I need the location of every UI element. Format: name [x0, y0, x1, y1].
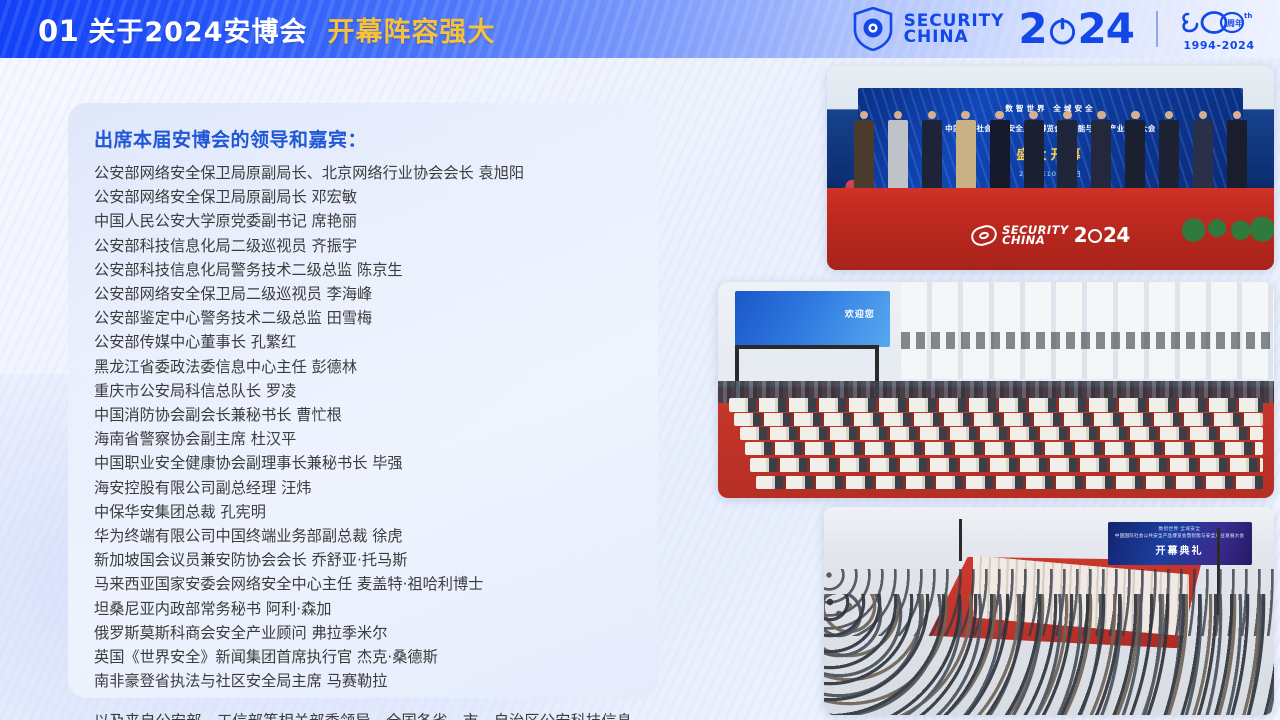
list-item: 重庆市公安局科信总队长 罗凌 [94, 379, 632, 403]
photo3-foreground-crowd [824, 594, 1274, 715]
list-item: 中国职业安全健康协会副理事长兼秘书长 毕强 [94, 451, 632, 475]
list-item: 公安部科技信息化局二级巡视员 齐振宇 [94, 234, 632, 258]
list-item: 公安部网络安全保卫局二级巡视员 李海峰 [94, 282, 632, 306]
logo-year-prefix: 2 [1018, 8, 1046, 50]
guest-list: 公安部网络安全保卫局原副局长、北京网络行业协会会长 袁旭阳 公安部网络安全保卫局… [94, 161, 632, 693]
list-item: 中国消防协会副会长兼秘书长 曹忙根 [94, 403, 632, 427]
photo1-person [1227, 111, 1247, 193]
logo-divider [1156, 11, 1158, 47]
page-title: 01 关于2024安博会 开幕阵容强大 [38, 10, 496, 49]
photo1-swirl-icon [969, 222, 999, 248]
photo1-person [990, 111, 1010, 193]
photo1-person [1057, 111, 1077, 193]
anniversary-badge: 周年 th 1994-2024 [1180, 8, 1258, 51]
anniversary-30-icon: 周年 th [1180, 8, 1258, 38]
photo1-stage-logo: SECURITY CHINA 2 24 [912, 211, 1189, 260]
photo3-screen-line1: 数智世界 全域安全 [1108, 526, 1252, 532]
photo1-person [1024, 111, 1044, 193]
list-item: 坦桑尼亚内政部常务秘书 阿利·森加 [94, 597, 632, 621]
photo1-person [1091, 111, 1111, 193]
list-item: 中保华安集团总裁 孔宪明 [94, 500, 632, 524]
section-title: 关于2024安博会 [88, 10, 307, 49]
anniversary-years: 1994-2024 [1183, 40, 1254, 51]
security-shield-icon [853, 7, 893, 51]
photo1-person [854, 111, 874, 193]
photo1-person [1159, 111, 1179, 193]
photo2-seating-area [729, 396, 1263, 498]
photo3-led-screen: 数智世界 全域安全 中国国际社会公共安全产品博览会暨智能与安全产业发展大会 开幕… [1108, 522, 1252, 566]
list-item: 中国人民公安大学原党委副书记 席艳丽 [94, 209, 632, 233]
photo1-person [1193, 111, 1213, 193]
svg-text:周年: 周年 [1227, 18, 1243, 28]
photo2-hall-pillars [901, 282, 1274, 379]
logo-year-suffix: 24 [1078, 8, 1134, 50]
list-item: 公安部鉴定中心警务技术二级总监 田雪梅 [94, 306, 632, 330]
photo3-screen-line2: 中国国际社会公共安全产品博览会暨智能与安全产业发展大会 [1108, 533, 1252, 539]
list-item: 俄罗斯莫斯科商会安全产业顾问 弗拉季米尔 [94, 621, 632, 645]
list-item: 英国《世界安全》新闻集团首席执行官 杰克·桑德斯 [94, 645, 632, 669]
list-item: 公安部网络安全保卫局原副局长 邓宏敏 [94, 185, 632, 209]
photo1-person [1125, 111, 1145, 193]
aerial-ceremony-photo: 数智世界 全域安全 中国国际社会公共安全产品博览会暨智能与安全产业发展大会 开幕… [824, 507, 1274, 715]
list-item: 海安控股有限公司副总经理 汪炜 [94, 476, 632, 500]
list-item: 公安部科技信息化局警务技术二级总监 陈京生 [94, 258, 632, 282]
photo1-vip-row [854, 111, 1247, 193]
card-title: 出席本届安博会的领导和嘉宾： [94, 125, 632, 152]
list-item: 华为终端有限公司中国终端业务部副总裁 徐虎 [94, 524, 632, 548]
logo-line-china: CHINA [904, 29, 1005, 45]
list-item: 新加坡国会议员兼安防协会会长 乔舒亚·托马斯 [94, 548, 632, 572]
power-button-icon [1048, 16, 1077, 45]
photo3-truss-left [959, 519, 962, 561]
guest-list-card: 出席本届安博会的领导和嘉宾： 公安部网络安全保卫局原副局长、北京网络行业协会会长… [68, 103, 658, 698]
photo1-logo-year-a: 2 [1074, 223, 1087, 247]
section-subtitle: 开幕阵容强大 [328, 10, 496, 49]
section-index: 01 [38, 14, 79, 48]
slide-header-bar: 01 关于2024安博会 开幕阵容强大 SECURITY CHINA 2 [0, 0, 1280, 58]
photo1-plants-right [1176, 209, 1274, 262]
photo1-logo-year-b: 24 [1103, 223, 1130, 247]
list-item: 公安部传媒中心董事长 孔繁红 [94, 330, 632, 354]
list-item: 海南省警察协会副主席 杜汉平 [94, 427, 632, 451]
photo1-logo-china: CHINA [1002, 235, 1068, 246]
svg-text:th: th [1244, 12, 1252, 20]
summary-part-1: 以及来自公安部、工信部等相关部委领导，全国各省、市、自治区公安科技信息化部门领导… [94, 712, 632, 720]
photo1-person [956, 111, 976, 193]
photo2-upper-gallery [901, 332, 1274, 349]
list-item: 南非豪登省执法与社区安全局主席 马赛勒拉 [94, 669, 632, 693]
photo3-screen-line3: 开幕典礼 [1108, 542, 1252, 557]
list-item: 公安部网络安全保卫局原副局长、北京网络行业协会会长 袁旭阳 [94, 161, 632, 185]
audience-hall-photo: 欢迎您 [718, 282, 1274, 498]
list-item: 马来西亚国家安委会网络安全中心主任 麦盖特·祖哈利博士 [94, 572, 632, 596]
logo-year: 2 24 [1018, 8, 1134, 50]
photo1-person [888, 111, 908, 193]
summary-paragraph: 以及来自公安部、工信部等相关部委领导，全国各省、市、自治区公安科技信息化部门领导… [94, 709, 632, 720]
photo1-person [922, 111, 942, 193]
opening-ceremony-stage-photo: 数智世界 全域安全 中国国际社会公共安全产品博览会暨智能与安全产业发展大会 盛大… [827, 66, 1274, 270]
security-china-wordmark: SECURITY CHINA [904, 13, 1005, 46]
photo2-welcome-screen: 欢迎您 [735, 291, 891, 347]
event-logo: SECURITY CHINA 2 24 周年 th [853, 0, 1258, 58]
list-item: 黑龙江省委政法委信息中心主任 彭德林 [94, 355, 632, 379]
photo2-screen-text: 欢迎您 [845, 307, 875, 320]
photo1-power-icon [1088, 229, 1102, 243]
slide-root: 01 关于2024安博会 开幕阵容强大 SECURITY CHINA 2 [0, 0, 1280, 720]
